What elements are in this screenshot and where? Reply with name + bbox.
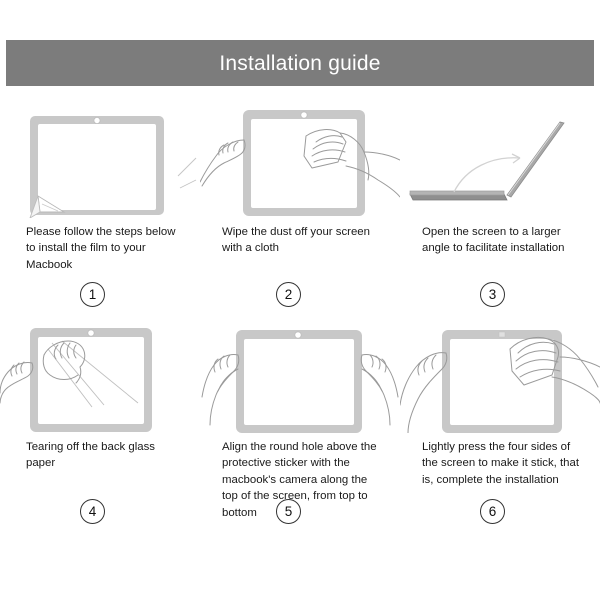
step-badge-5: 5 — [276, 499, 301, 524]
step-caption-1: Please follow the steps below to install… — [0, 218, 200, 273]
step-caption-4: Tearing off the back glass paper — [0, 433, 200, 472]
step-cell-3: Open the screen to a larger angle to fac… — [400, 100, 600, 315]
header-banner: Installation guide — [6, 40, 594, 86]
illustration-step-6 — [400, 315, 600, 433]
step-caption-2: Wipe the dust off your screen with a clo… — [200, 218, 400, 257]
step-badge-1: 1 — [80, 282, 105, 307]
step-badge-2: 2 — [276, 282, 301, 307]
step-cell-1: Please follow the steps below to install… — [0, 100, 200, 315]
step-badge-3: 3 — [480, 282, 505, 307]
step-cell-6: Lightly press the four sides of the scre… — [400, 315, 600, 530]
illustration-step-5 — [200, 315, 400, 433]
illustration-step-1 — [0, 100, 200, 218]
illustration-step-3 — [400, 100, 600, 218]
step-caption-3: Open the screen to a larger angle to fac… — [400, 218, 600, 257]
step-caption-6: Lightly press the four sides of the scre… — [400, 433, 600, 488]
step-cell-2: Wipe the dust off your screen with a clo… — [200, 100, 400, 315]
installation-guide-page: Installation guide — [0, 0, 600, 600]
illustration-step-2 — [200, 100, 400, 218]
step-badge-6: 6 — [480, 499, 505, 524]
illustration-step-4 — [0, 315, 200, 433]
steps-grid: Please follow the steps below to install… — [0, 100, 600, 530]
step-cell-5: Align the round hole above the protectiv… — [200, 315, 400, 530]
step-badge-4: 4 — [80, 499, 105, 524]
page-title: Installation guide — [219, 53, 380, 74]
step-cell-4: Tearing off the back glass paper 4 — [0, 315, 200, 530]
